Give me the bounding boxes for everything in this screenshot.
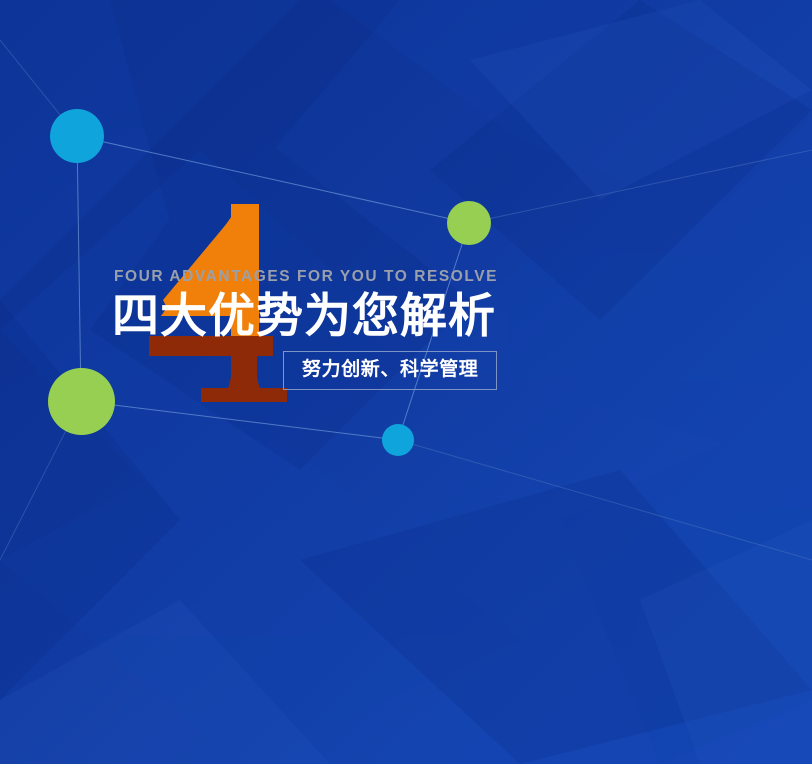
node-cyan-bottom xyxy=(382,424,414,456)
node-cyan-top-left xyxy=(50,109,104,163)
tagline-text: 努力创新、科学管理 xyxy=(302,358,478,380)
node-green-right xyxy=(447,201,491,245)
page-title: 四大优势为您解析 xyxy=(112,289,712,344)
promo-banner: FOUR ADVANTAGES FOR YOU TO RESOLVE 四大优势为… xyxy=(0,0,812,764)
headline-block: FOUR ADVANTAGES FOR YOU TO RESOLVE 四大优势为… xyxy=(112,268,712,345)
tagline-box: 努力创新、科学管理 xyxy=(283,351,497,390)
eyebrow-text: FOUR ADVANTAGES FOR YOU TO RESOLVE xyxy=(114,268,712,285)
node-green-bottom-left xyxy=(48,368,115,435)
